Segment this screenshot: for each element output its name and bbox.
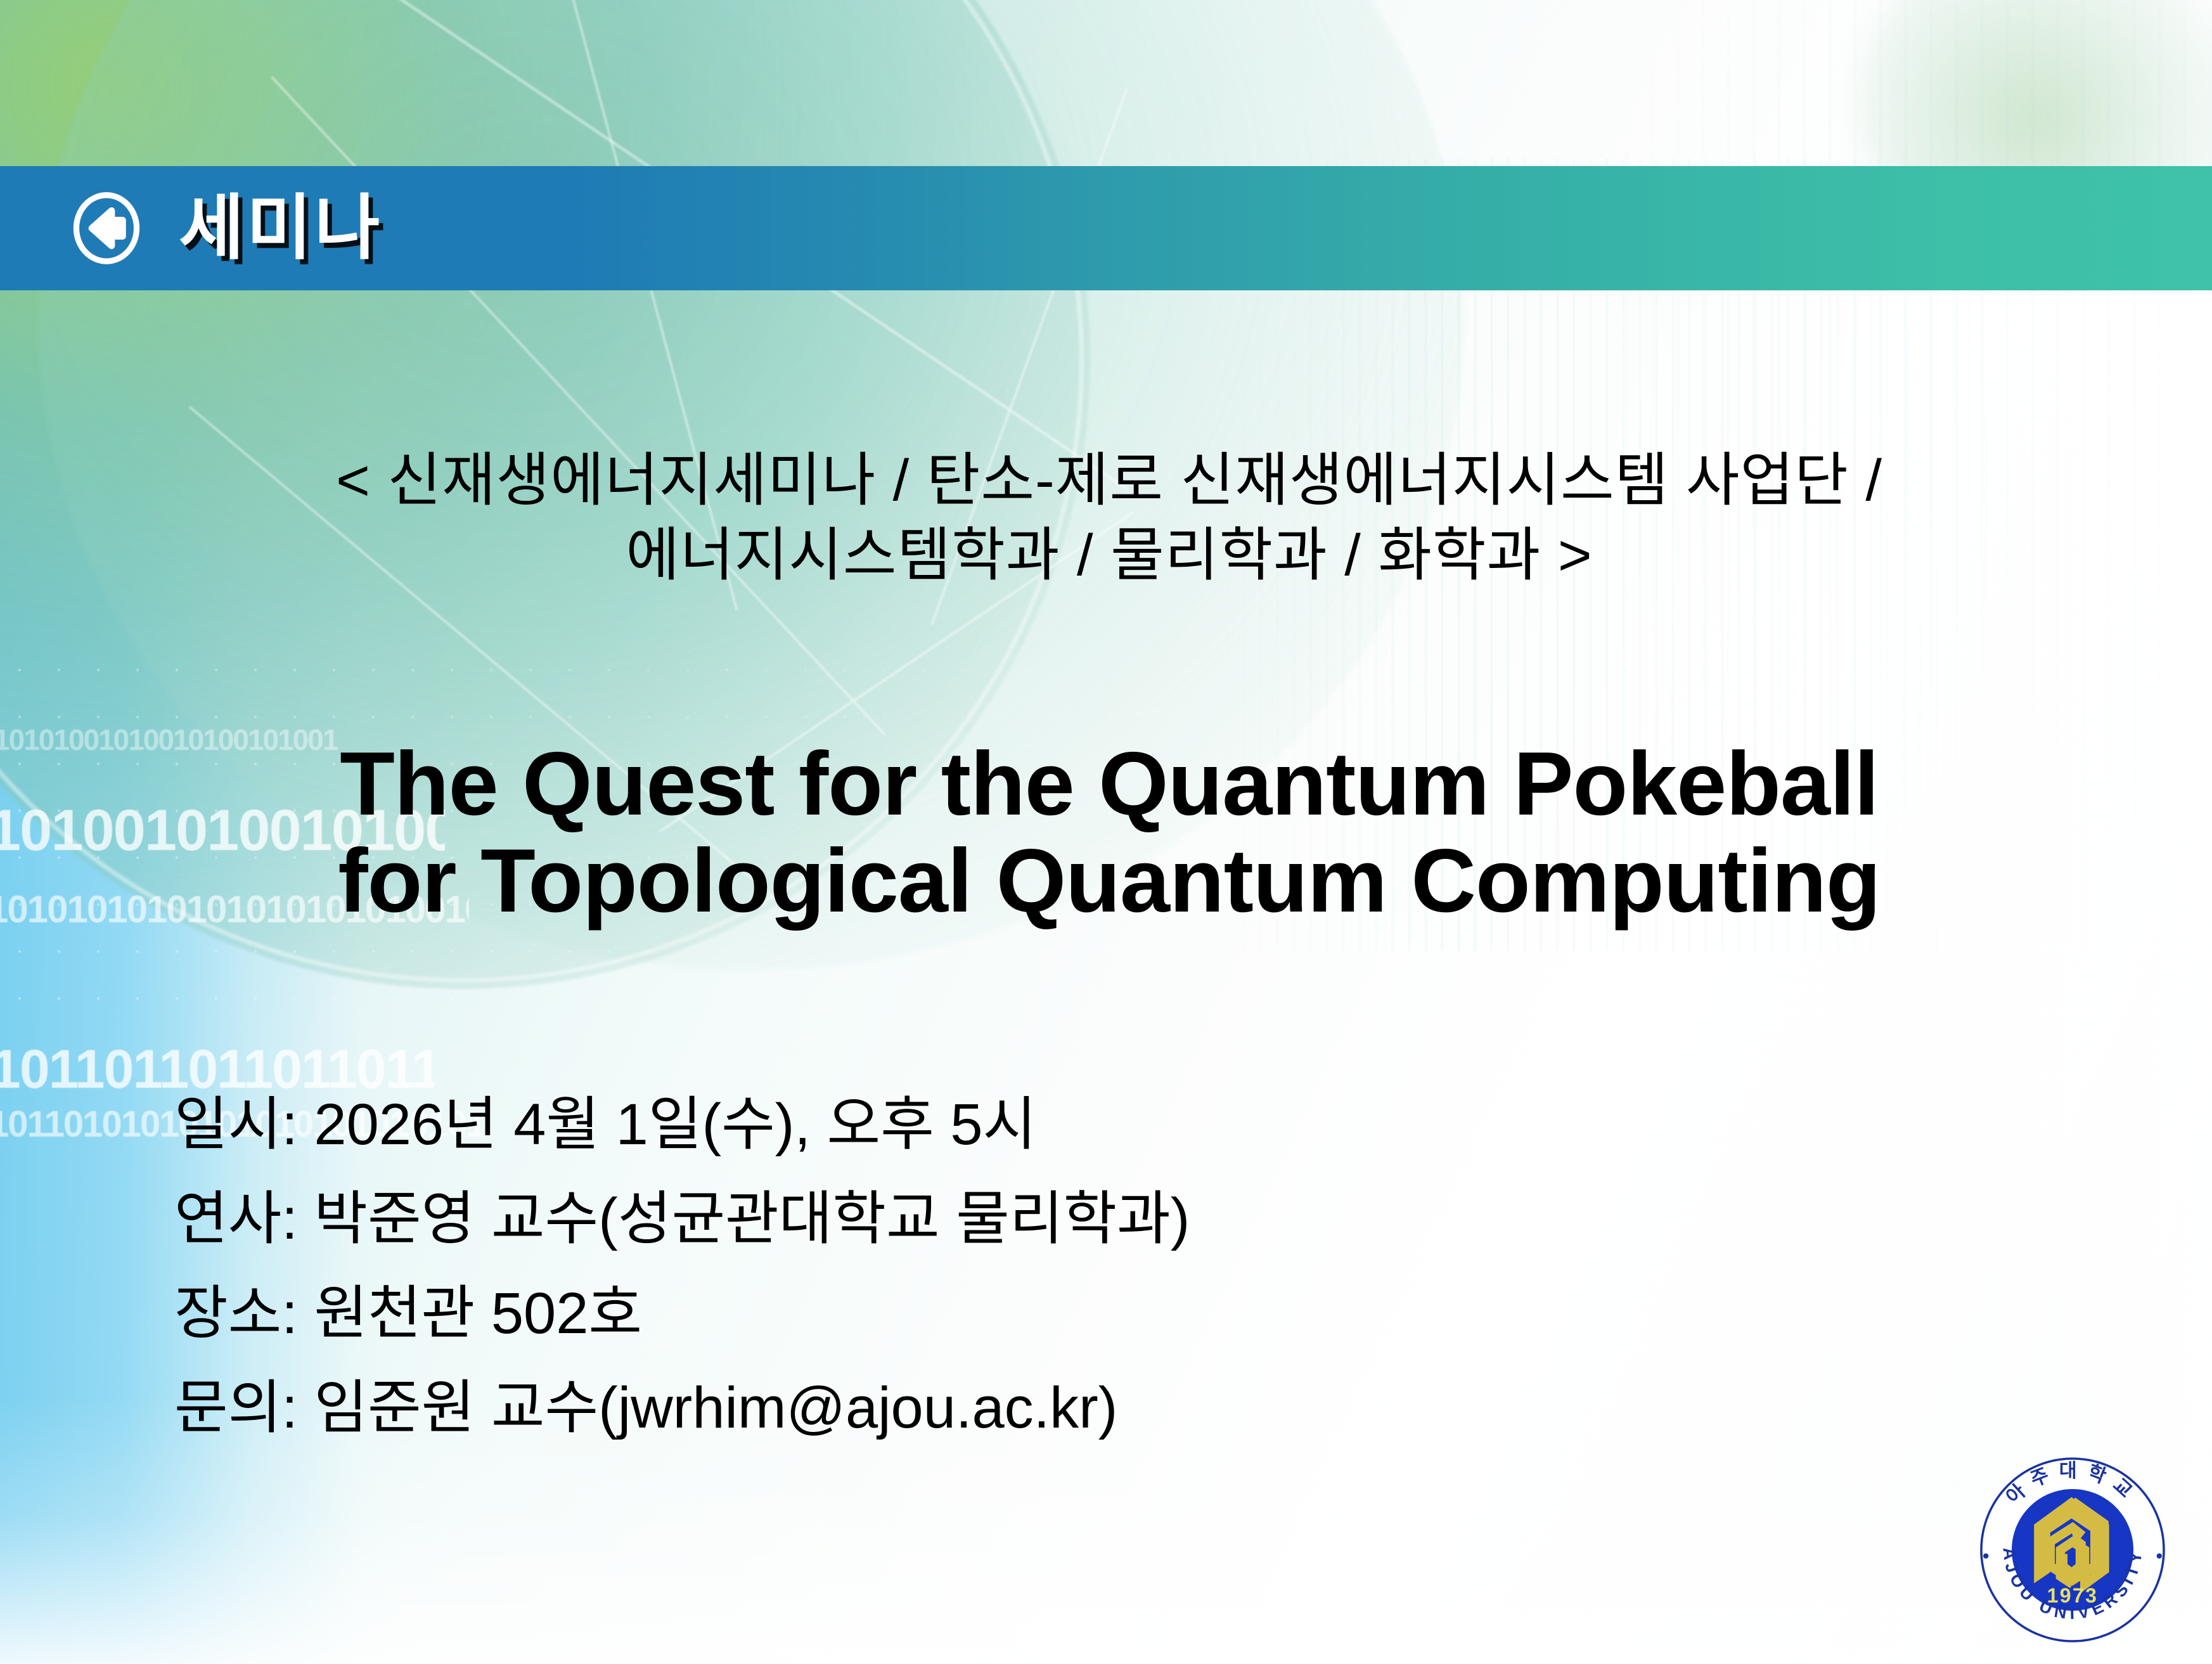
ajou-university-logo: 1973 아주대학교 AJOU UNIVERSITY — [1971, 1448, 2174, 1651]
header-title: 세미나 — [179, 193, 382, 264]
back-arrow-circle-icon[interactable] — [70, 191, 143, 265]
detail-contact: 문의: 임준원 교수(jwrhim@ajou.ac.kr) — [174, 1361, 1822, 1455]
detail-speaker: 연사: 박준영 교수(성균관대학교 물리학과) — [174, 1172, 1822, 1267]
title-line-1: The Quest for the Quantum Pokeball — [95, 735, 2123, 832]
header-bar: 세미나 — [0, 166, 2212, 290]
seminar-subtitle: < 신재생에너지세미나 / 탄소-제로 신재생에너지시스템 사업단 / 에너지시… — [114, 444, 2104, 593]
seminar-poster: 10101001010010100101001 1010010100101001… — [0, 0, 2212, 1664]
title-line-2: for Topological Quantum Computing — [95, 832, 2123, 929]
detail-venue: 장소: 원천관 502호 — [174, 1267, 1822, 1361]
page-title: The Quest for the Quantum Pokeball for T… — [95, 735, 2123, 930]
detail-datetime: 일시: 2026년 4월 1일(수), 오후 5시 — [174, 1078, 1822, 1172]
subtitle-line-1: < 신재생에너지세미나 / 탄소-제로 신재생에너지시스템 사업단 / — [114, 444, 2104, 519]
ajou-logo-svg: 1973 아주대학교 AJOU UNIVERSITY — [1971, 1448, 2174, 1651]
seminar-details: 일시: 2026년 4월 1일(수), 오후 5시 연사: 박준영 교수(성균관… — [174, 1078, 1822, 1455]
subtitle-line-2: 에너지시스템학과 / 물리학과 / 화학과 > — [114, 519, 2104, 593]
